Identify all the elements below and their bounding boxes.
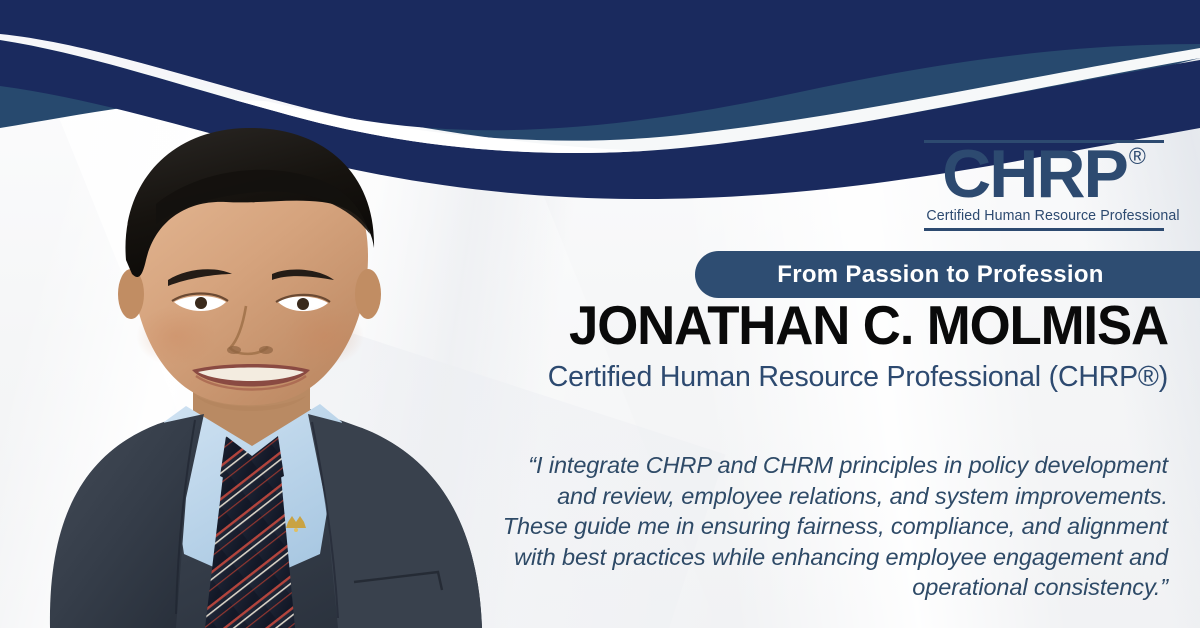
portrait-photo xyxy=(0,84,530,628)
logo-wordmark: CHRP ® xyxy=(924,143,1164,205)
logo-rule-bottom xyxy=(924,228,1164,231)
logo-tagline: Certified Human Resource Professional xyxy=(926,208,1161,224)
tagline-banner-label: From Passion to Profession xyxy=(777,261,1118,289)
logo-text: CHRP xyxy=(942,143,1127,205)
registered-mark-icon: ® xyxy=(1129,145,1146,168)
promo-card: CHRP ® Certified Human Resource Professi… xyxy=(0,0,1200,628)
person-name: JONATHAN C. MOLMISA xyxy=(47,296,1168,354)
person-role: Certified Human Resource Professional (C… xyxy=(0,360,1168,394)
chrp-logo: CHRP ® Certified Human Resource Professi… xyxy=(924,140,1164,231)
person-quote: “I integrate CHRP and CHRM principles in… xyxy=(500,450,1168,603)
tagline-banner: From Passion to Profession xyxy=(695,251,1200,298)
